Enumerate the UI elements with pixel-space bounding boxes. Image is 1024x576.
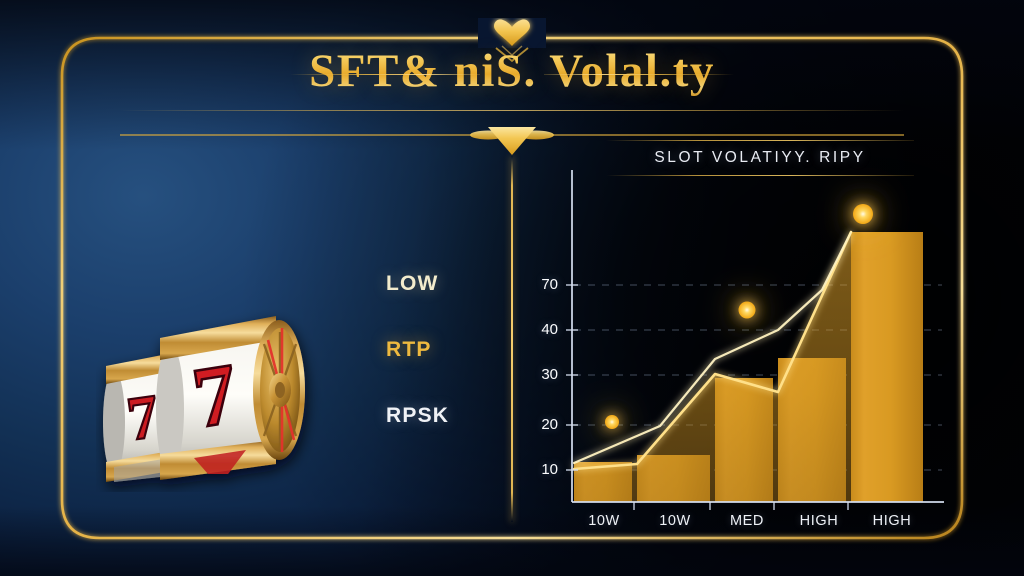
- legend-item-low[interactable]: LOW: [386, 272, 506, 296]
- xtick-label-3: HIGH: [784, 513, 854, 529]
- xtick-label-2: MED: [712, 513, 782, 529]
- ytick-label-30: 30: [514, 366, 558, 383]
- ytick-label-70: 70: [514, 276, 558, 293]
- chart-panel: SLOT VOLATIYY. RIPY: [512, 130, 1012, 550]
- screenshot-root: SFT& niS. Volal.ty: [0, 0, 1024, 576]
- glow-point-1: [605, 415, 619, 429]
- page-title: SFT& niS. Volal.ty: [309, 44, 715, 98]
- ytick-label-40: 40: [514, 321, 558, 338]
- xtick-label-0: 10W: [569, 513, 639, 529]
- title-rule-left: [290, 74, 480, 75]
- glow-point-2: [739, 302, 756, 319]
- reel-wheel: [253, 320, 305, 460]
- legend-item-rpsk[interactable]: RPSK: [386, 404, 506, 428]
- legend-item-rtp[interactable]: RTP: [386, 338, 506, 362]
- legend-list: LOW RTP RPSK: [386, 272, 506, 470]
- ytick-label-10: 10: [514, 461, 558, 478]
- xtick-label-1: 10W: [640, 513, 710, 529]
- xtick-label-4: HIGH: [857, 513, 927, 529]
- glow-point-3: [853, 204, 873, 224]
- title-block: SFT& niS. Volal.ty: [0, 44, 1024, 98]
- ytick-label-20: 20: [514, 416, 558, 433]
- slot-machine-reels: 7 7: [96, 292, 346, 492]
- title-underline: [120, 110, 904, 111]
- chart-area-fill: [574, 232, 851, 502]
- volatility-chart: [512, 130, 1012, 550]
- title-rule-right: [544, 74, 734, 75]
